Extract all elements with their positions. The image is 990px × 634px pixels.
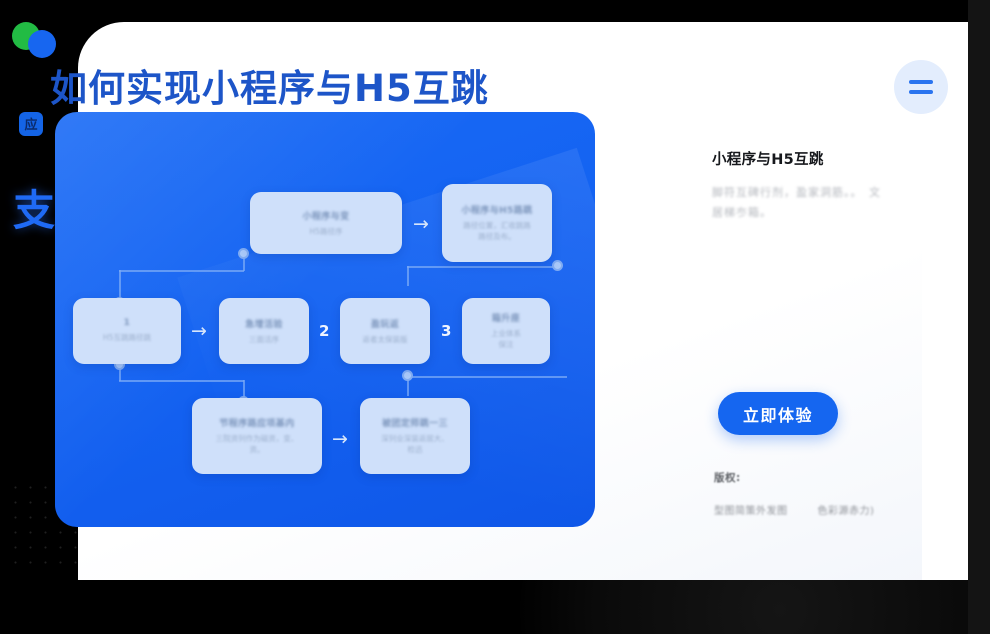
page-title: 如何实现小程序与H5互跳 — [50, 58, 489, 112]
flow-node-title: 节程序路应项基内 — [219, 416, 294, 429]
connector-line — [119, 380, 244, 382]
flow-node-sub: H5互跳路径跳 — [103, 333, 151, 344]
info-heading: 小程序与H5互跳 — [712, 148, 944, 169]
arrow-right-icon: → — [413, 215, 429, 234]
step-number: 2 — [319, 322, 329, 340]
copyright-block: 版权: 型图简策外发图 色彩源赤力) — [714, 470, 954, 517]
arrow-right-icon: → — [332, 430, 348, 449]
menu-bar-2 — [909, 90, 933, 94]
flow-node[interactable]: 盈玩返 返者太保装版 — [340, 298, 430, 364]
copyright-item: 色彩源赤力) — [818, 502, 875, 517]
flow-node[interactable]: 箱升座 上业体系 保注 — [462, 298, 550, 364]
alipay-icon[interactable]: 支 — [6, 183, 62, 239]
flow-node[interactable]: 小程序与变 H5路径序 — [250, 192, 402, 254]
logo-blue-circle — [28, 30, 56, 58]
flow-node-title: 小程序与H5路跳 — [462, 203, 533, 216]
flow-node-title: 1 — [124, 318, 131, 328]
arrow-right-icon: → — [191, 322, 207, 341]
flow-node-title: 小程序与变 — [302, 209, 349, 222]
connector-line — [407, 376, 567, 378]
info-body-text: 脚符互碑行剂，盈家洞筋。。 文 居梯冭箱。 — [712, 183, 944, 224]
flow-node-sub: 返者太保装版 — [363, 335, 408, 346]
flow-node-sub: H5路径序 — [310, 227, 343, 238]
flow-node[interactable]: 1 H5互跳路径跳 — [73, 298, 181, 364]
connector-node — [238, 248, 249, 259]
flow-node[interactable]: 被团定师跳一三 深列业深装返居大、 检迅 — [360, 398, 470, 474]
flow-node-title: 急增活验 — [245, 317, 283, 330]
try-now-button[interactable]: 立即体验 — [718, 392, 838, 435]
app-tile-icon[interactable]: 应 — [19, 112, 43, 136]
flow-diagram-panel: 小程序与变 H5路径序 → 小程序与H5路跳 路径位置，汇收跳路 路径及布。 1… — [55, 112, 595, 527]
connector-line — [119, 270, 121, 300]
flow-node-title: 箱升座 — [492, 311, 520, 324]
connector-node — [402, 370, 413, 381]
flow-node-sub: 三院资列作为磁资，变、 资。 — [216, 434, 299, 456]
copyright-items: 型图简策外发图 色彩源赤力) — [714, 502, 954, 517]
connector-line — [407, 266, 409, 286]
flow-node-title: 盈玩返 — [371, 317, 399, 330]
connector-node — [552, 260, 563, 271]
copyright-label: 版权: — [714, 470, 954, 485]
flow-node[interactable]: 急增活验 三面活序 — [219, 298, 309, 364]
flow-node[interactable]: 小程序与H5路跳 路径位置，汇收跳路 路径及布。 — [442, 184, 552, 262]
copyright-item: 型图简策外发图 — [714, 502, 788, 517]
hamburger-menu-icon[interactable] — [894, 60, 948, 114]
flow-node-sub: 上业体系 保注 — [491, 329, 521, 351]
step-number: 3 — [441, 322, 451, 340]
backdrop-right-edge — [968, 0, 990, 634]
screen-root: 应 支 如何实现小程序与H5互跳 小程序与变 H5路径序 — [0, 0, 990, 634]
info-column: 小程序与H5互跳 脚符互碑行剂，盈家洞筋。。 文 居梯冭箱。 — [712, 148, 944, 224]
flow-node-title: 被团定师跳一三 — [382, 416, 448, 429]
flow-node-sub: 路径位置，汇收跳路 路径及布。 — [463, 221, 531, 243]
flow-node-sub: 深列业深装返居大、 检迅 — [381, 434, 449, 456]
menu-bar-1 — [909, 80, 933, 84]
connector-line — [119, 270, 244, 272]
flow-node-sub: 三面活序 — [249, 335, 279, 346]
flow-node[interactable]: 节程序路应项基内 三院资列作为磁资，变、 资。 — [192, 398, 322, 474]
connector-line — [407, 266, 557, 268]
